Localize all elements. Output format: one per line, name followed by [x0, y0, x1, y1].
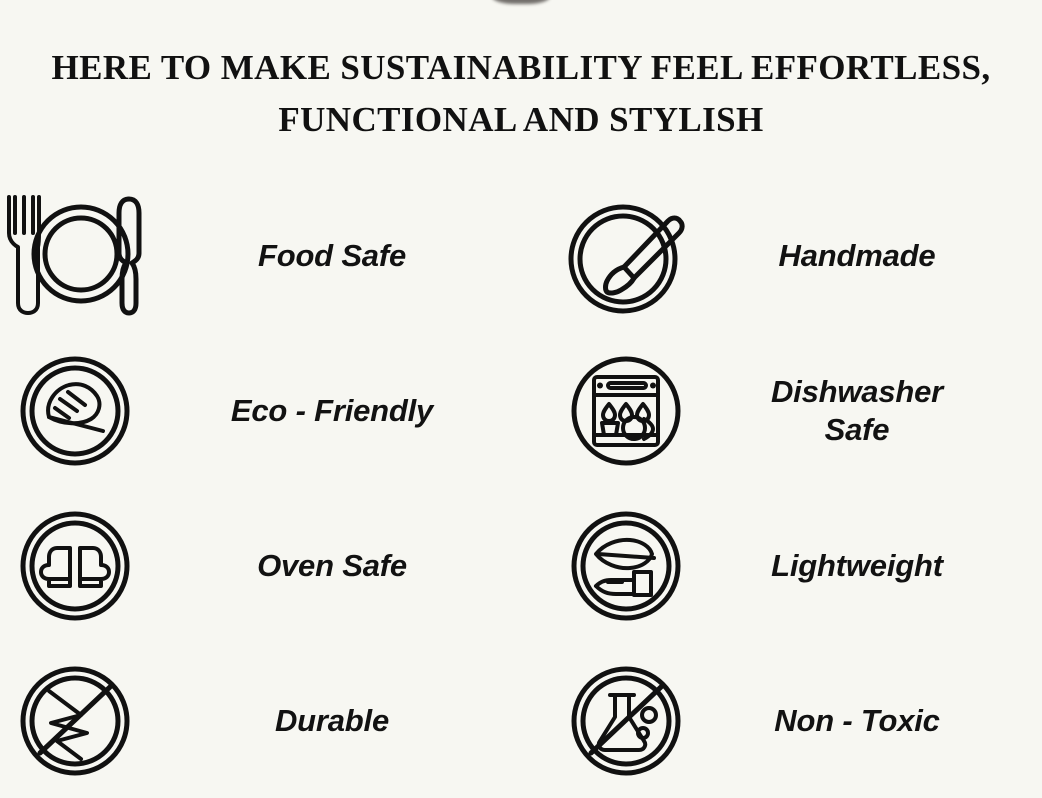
feature-label-line-1: Dishwasher	[771, 374, 943, 409]
feature-label: Handmade	[692, 237, 1042, 275]
feature-label: Durable	[150, 702, 560, 740]
fork-plate-knife-icon	[0, 191, 150, 321]
dishwasher-circle-icon	[560, 355, 692, 467]
feature-label: Lightweight	[692, 547, 1042, 585]
feature-label: Dishwasher Safe	[692, 373, 1042, 449]
feature-item-food-safe: Food Safe	[0, 178, 560, 333]
leaf-circle-icon	[0, 355, 150, 467]
feature-label: Food Safe	[150, 237, 560, 275]
feature-item-dishwasher-safe: Dishwasher Safe	[560, 333, 1042, 488]
feature-grid: Food Safe Handmade	[0, 178, 1042, 798]
paintbrush-circle-icon	[560, 197, 692, 315]
leaf-hand-circle-icon	[560, 510, 692, 622]
feature-item-durable: Durable	[0, 643, 560, 798]
feature-item-handmade: Handmade	[560, 178, 1042, 333]
crack-no-break-circle-icon	[0, 665, 150, 777]
feature-label: Eco - Friendly	[150, 392, 560, 430]
feature-label: Non - Toxic	[692, 702, 1042, 740]
feature-label-line-2: Safe	[825, 412, 890, 447]
feature-item-eco-friendly: Eco - Friendly	[0, 333, 560, 488]
feature-item-oven-safe: Oven Safe	[0, 488, 560, 643]
feature-label: Oven Safe	[150, 547, 560, 585]
feature-item-non-toxic: Non - Toxic	[560, 643, 1042, 798]
cropped-logo-sliver	[492, 0, 550, 4]
page-title: HERE TO MAKE SUSTAINABILITY FEEL EFFORTL…	[0, 42, 1042, 146]
feature-item-lightweight: Lightweight	[560, 488, 1042, 643]
oven-mitts-circle-icon	[0, 510, 150, 622]
no-flask-circle-icon	[560, 665, 692, 777]
infographic-page: HERE TO MAKE SUSTAINABILITY FEEL EFFORTL…	[0, 0, 1042, 790]
page-title-line-2: FUNCTIONAL AND STYLISH	[14, 94, 1028, 146]
page-title-line-1: HERE TO MAKE SUSTAINABILITY FEEL EFFORTL…	[14, 42, 1028, 94]
